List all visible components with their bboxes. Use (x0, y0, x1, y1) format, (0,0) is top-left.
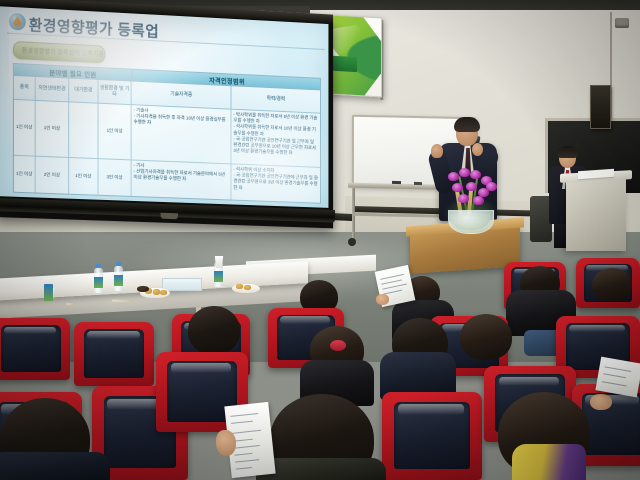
bottle-label (214, 271, 223, 282)
handout-booklet (595, 357, 640, 398)
table-cell: - 박사학위를 취득한 자로서 5년 이상 환경 기술무를 수행한 자 - 석사… (231, 110, 320, 168)
projected-slide: 환경영향평가 등록업 환경영향평가 등록업의 등록기준 분야별 필요 인원 자격… (0, 6, 328, 208)
chopsticks (66, 303, 76, 305)
orchid-pot (448, 210, 494, 234)
podium-man-hair (557, 146, 578, 158)
table-cell: 1인 이상 (36, 101, 69, 158)
whiteboard-marker-icon (414, 182, 422, 185)
screen-pull-handle (161, 213, 178, 219)
orchid-flower (459, 168, 470, 177)
audience-member (460, 314, 512, 360)
table-cell: - 기술사 - 기사자격을 취득한 후 자격 10년 이상 환경실무를 수행한 … (132, 105, 232, 164)
table-subheader-0: 종목 (14, 76, 36, 101)
audience-hand (216, 430, 236, 456)
seat (74, 322, 154, 386)
slide-subhead-pill: 환경영향평가 등록업의 등록기준 (13, 41, 105, 63)
serving-tray (162, 278, 202, 291)
bottle-label (114, 275, 123, 286)
dark-snack-item (137, 286, 149, 292)
snack-item (236, 284, 243, 289)
ceiling-fixture (615, 18, 629, 28)
orchid-flower (466, 182, 477, 191)
presenter-right-hand (472, 143, 483, 156)
water-bottle (114, 266, 123, 291)
table-cell: 1인 이상 (14, 100, 36, 157)
audience-head (460, 314, 512, 360)
bottle-cap (116, 262, 121, 266)
table-cell: - 기사 - 산업기사자격을 취득한 자로서 기술분야에서 5년 이상 환경기술… (132, 160, 232, 199)
table-cell: - 석사학위 이상 소지자 - 국·공립연구기관 공인연구기관에 근무자 및 환… (231, 164, 320, 202)
seat (382, 392, 482, 480)
table-cell: 1인 이상 (69, 158, 98, 195)
orchid-flower (458, 194, 469, 203)
presenter-hair (454, 117, 480, 132)
hair-scrunchie (330, 340, 346, 351)
seat (0, 318, 70, 380)
bottle-label (44, 284, 53, 301)
table-cell: 1인 이상 (99, 104, 132, 161)
table-subheader-2: 대기환경 (69, 79, 98, 104)
audience-hand (376, 294, 389, 305)
table-cell: 1인 이상 (14, 156, 36, 193)
wall-speaker-icon (590, 85, 611, 129)
slide-bullet-icon (9, 13, 26, 31)
audience-member (188, 306, 240, 354)
projection-screen: 환경영향평가 등록업 환경영향평가 등록업의 등록기준 분야별 필요 인원 자격… (0, 2, 333, 228)
audience-head (592, 268, 632, 302)
whiteboard-wheel-left (348, 238, 356, 246)
table-cell: 3인 이상 (99, 159, 132, 196)
bottle-cap (96, 264, 101, 268)
snack-item (160, 290, 167, 295)
water-bottle (94, 268, 103, 293)
snack-item (244, 285, 251, 290)
slide-subhead-text: 환경영향평가 등록업의 등록기준 (22, 45, 104, 58)
orchid-flower (470, 170, 481, 179)
orchid-flower (452, 183, 463, 192)
table-subheader-3: 생활환경 및 기타 (99, 80, 132, 105)
snack-item (153, 289, 160, 295)
podium (566, 176, 626, 251)
table-subheader-1: 자연생태환경 (36, 77, 69, 102)
orchid-flower (486, 182, 497, 191)
orchid-flower (448, 172, 459, 181)
bottle-label (94, 277, 103, 288)
lecture-hall-photo: 수회 구전학토론 교급 환경공학과 환경영향평가 등록업 환경영향평가 등록업의… (0, 0, 640, 480)
audience-member (592, 268, 632, 302)
presenter-left-hand (431, 144, 443, 158)
audience-hand (590, 394, 612, 410)
audience-head (188, 306, 240, 354)
table-cell: 2인 이상 (36, 157, 69, 194)
table-cell (69, 102, 98, 159)
slide-table: 분야별 필요 인원 자격인정범위 종목 자연생태환경 대기환경 생활환경 및 기… (13, 63, 321, 204)
audience-yellow-purple-jacket (512, 444, 586, 480)
whiteboard-marker-icon (392, 181, 401, 184)
audience-coat (0, 452, 110, 480)
orchid-flower (473, 196, 484, 205)
audience-coat (256, 458, 386, 480)
